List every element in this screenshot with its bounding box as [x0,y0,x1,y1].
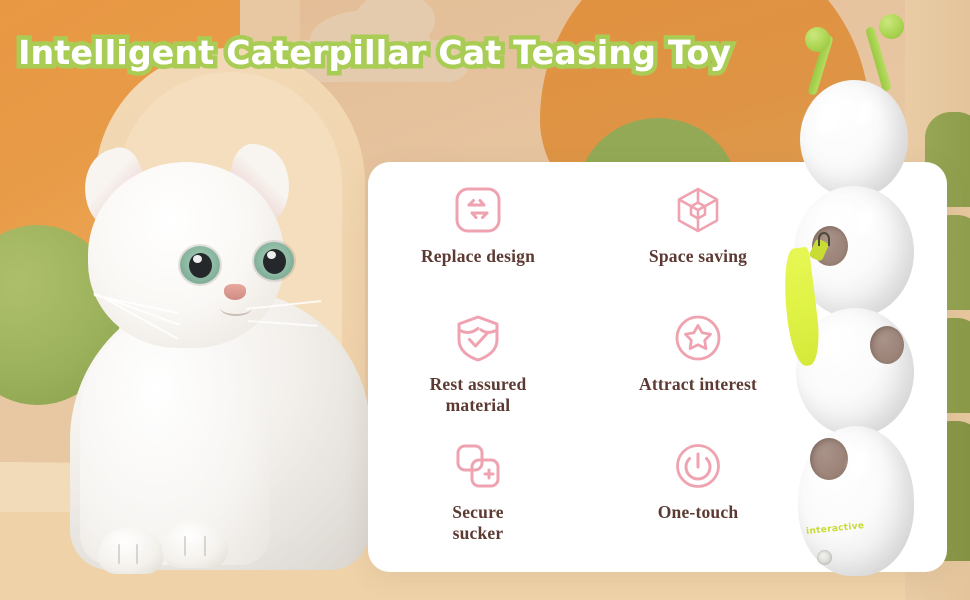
feature-item-rest-assured-material[interactable]: Rest assured material [368,304,588,432]
feature-label: Replace design [421,246,535,267]
cat-paw-right [162,522,228,568]
overlapping-squares-plus-icon [453,440,503,492]
cat-eye-right [254,242,294,280]
cat-eye-left [180,246,220,284]
antenna-ball-right [879,14,904,39]
cat-eye-glint [267,251,276,259]
feature-item-secure-sucker[interactable]: Secure sucker [368,432,588,560]
feature-label: Secure sucker [452,502,503,545]
product-led-indicator [817,550,832,565]
cat-paw-left [98,528,164,574]
toy-segment-head [800,80,908,198]
shield-check-icon [453,312,503,364]
cube-box-icon [673,184,723,236]
antenna-ball-left [805,27,830,52]
toy-hole [870,326,904,364]
cat-nose [224,284,246,300]
feature-item-replace-design[interactable]: Replace design [368,176,588,304]
cat-head [88,162,284,348]
cat-photo [40,140,370,560]
product-banner: Replace design Space saving [0,0,970,600]
feature-label: Attract interest [639,374,757,395]
toy-hole [810,438,848,480]
cat-eye-glint [193,255,202,263]
feature-label: One-touch [658,502,739,523]
feather-hook [818,232,830,246]
star-circle-icon [673,312,723,364]
feature-label: Rest assured material [430,374,527,417]
product-image-caterpillar-toy: interactive [770,8,950,593]
feature-label: Space saving [649,246,747,267]
replace-arrows-icon [453,184,503,236]
page-title: Intelligent Caterpillar Cat Teasing Toy [18,33,808,72]
power-button-icon [673,440,723,492]
feature-grid: Replace design Space saving [368,176,808,560]
